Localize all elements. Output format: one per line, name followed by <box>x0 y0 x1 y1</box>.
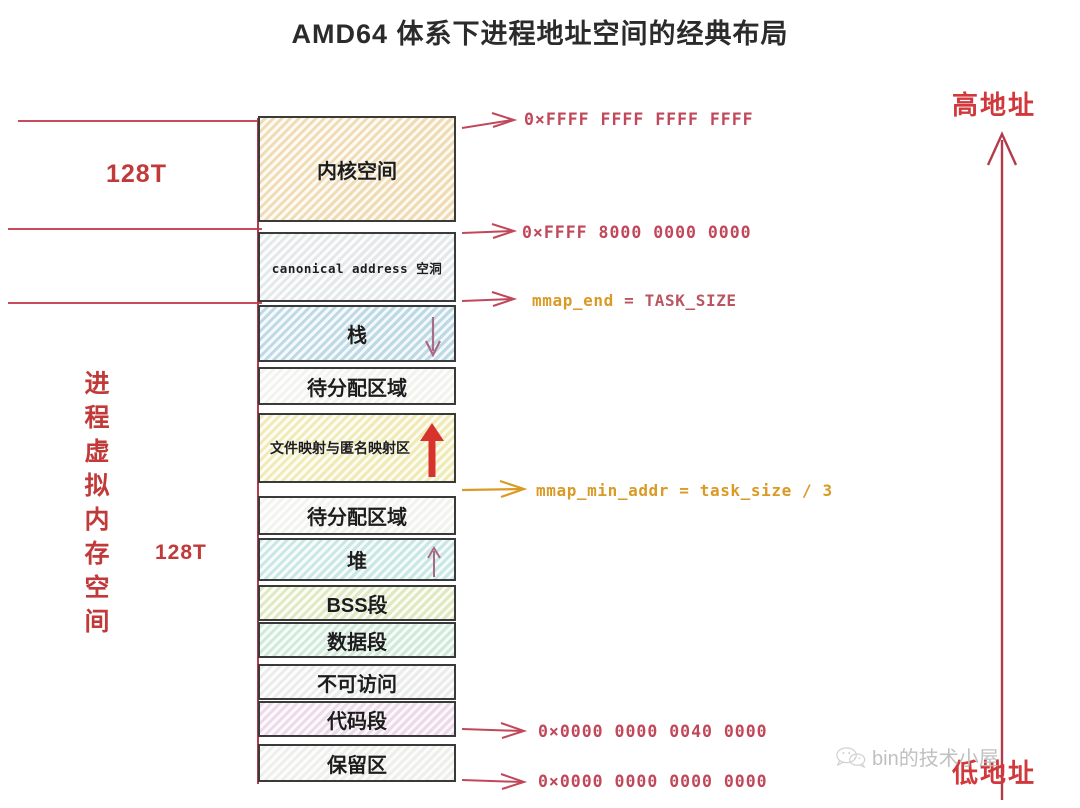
addr-code-start: 0×0000 0000 0040 0000 <box>538 722 768 741</box>
watermark-text: bin的技术小屋 <box>872 742 999 771</box>
pointer-addr-top <box>462 113 514 128</box>
memory-block-heap[interactable]: 堆 <box>258 538 456 581</box>
memory-block-unallocated-lower[interactable]: 待分配区域 <box>258 496 456 535</box>
memory-block-label: 待分配区域 <box>307 372 407 401</box>
memory-block-label: 保留区 <box>327 749 387 778</box>
memory-block-label: 不可访问 <box>317 668 397 697</box>
memory-block-label: canonical address 空洞 <box>272 258 442 277</box>
memory-block-label: 内核空间 <box>317 155 397 184</box>
guide-line-top <box>18 120 262 122</box>
size-label-user: 128T <box>155 541 207 565</box>
memory-block-reserved-area[interactable]: 保留区 <box>258 744 456 782</box>
memory-block-kernel-space[interactable]: 内核空间 <box>258 116 456 222</box>
memory-block-label: 数据段 <box>327 626 387 655</box>
pointer-mmap-min-addr <box>462 481 524 497</box>
watermark: bin的技术小屋 <box>836 742 999 771</box>
mmap-grow-up-arrow <box>418 421 446 479</box>
memory-block-label: BSS段 <box>326 589 387 618</box>
memory-block-text-segment[interactable]: 代码段 <box>258 701 456 737</box>
pointer-addr-code-start <box>462 723 524 738</box>
page-title: AMD64 体系下进程地址空间的经典布局 <box>0 12 1080 51</box>
memory-block-label: 待分配区域 <box>307 501 407 530</box>
size-label-kernel: 128T <box>106 160 167 189</box>
guide-line-kernel-base <box>8 228 262 230</box>
addr-kernel-base: 0×FFFF 8000 0000 0000 <box>522 223 752 242</box>
memory-block-label: 栈 <box>347 319 367 348</box>
stack-grow-down-arrow <box>422 315 444 357</box>
memory-block-label: 堆 <box>347 545 367 574</box>
mmap-end-value: = TASK_SIZE <box>614 291 737 310</box>
memory-block-unallocated-upper[interactable]: 待分配区域 <box>258 367 456 405</box>
memory-block-label: 文件映射与匿名映射区 <box>270 438 410 458</box>
memory-block-canonical-hole[interactable]: canonical address 空洞 <box>258 232 456 302</box>
memory-block-label: 代码段 <box>327 705 387 734</box>
memory-block-data-segment[interactable]: 数据段 <box>258 622 456 658</box>
guide-line-task-size <box>8 302 262 304</box>
mmap-min-addr-annotation: mmap_min_addr = task_size / 3 <box>536 481 833 500</box>
high-address-axis-arrow <box>988 134 1016 800</box>
pointer-addr-zero <box>462 774 524 789</box>
wechat-icon <box>836 746 866 768</box>
high-address-label: 高地址 <box>952 85 1036 122</box>
memory-block-file-and-anon-mmap[interactable]: 文件映射与匿名映射区 <box>258 413 456 483</box>
heap-grow-up-arrow <box>426 546 442 578</box>
addr-top: 0×FFFF FFFF FFFF FFFF <box>524 110 754 129</box>
mmap-end-annotation: mmap_end = TASK_SIZE <box>532 291 737 310</box>
pointer-mmap-end <box>462 292 514 306</box>
memory-block-inaccessible[interactable]: 不可访问 <box>258 664 456 700</box>
memory-block-bss-segment[interactable]: BSS段 <box>258 585 456 621</box>
addr-zero: 0×0000 0000 0000 0000 <box>538 772 768 791</box>
pointer-addr-kernel-base <box>462 224 514 238</box>
process-virtual-memory-label: 进程虚拟内存空间 <box>82 367 112 639</box>
memory-block-stack[interactable]: 栈 <box>258 305 456 362</box>
mmap-end-key: mmap_end <box>532 291 614 310</box>
